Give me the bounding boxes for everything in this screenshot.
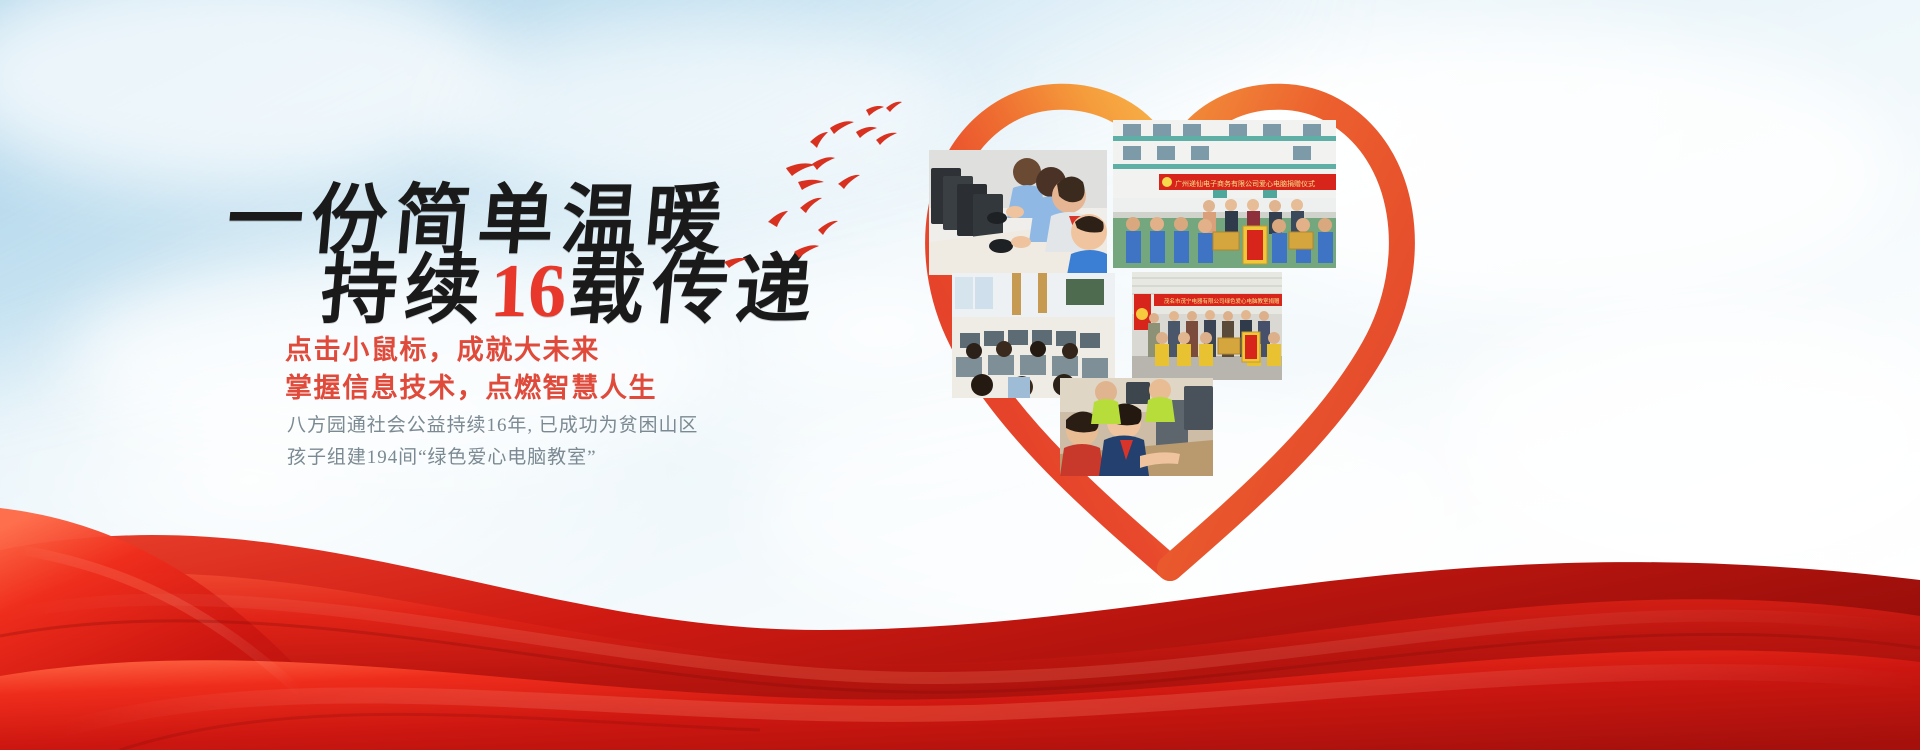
svg-text:广州递仙电子商务有限公司爱心电脑捐赠仪式: 广州递仙电子商务有限公司爱心电脑捐赠仪式 — [1175, 179, 1315, 188]
photo-donation-ceremony-school: 广州递仙电子商务有限公司爱心电脑捐赠仪式 — [1113, 120, 1336, 268]
charity-banner: 一份简单温暖 持续16载传递 点击小鼠标，成就大未来 掌握信息技术，点燃智慧人生… — [0, 0, 1920, 750]
photo-computer-lab-students — [929, 150, 1107, 275]
subtitle-line-1: 点击小鼠标，成就大未来 — [285, 328, 600, 367]
red-silk-ribbon — [0, 430, 1920, 750]
headline-years-number: 16 — [487, 248, 570, 335]
subtitle-line-2: 掌握信息技术，点燃智慧人生 — [285, 366, 657, 405]
photo-donation-group-indoor: 茂名市茂宁电器有限公司绿色爱心电脑教室捐赠 — [1132, 272, 1282, 380]
svg-text:茂名市茂宁电器有限公司绿色爱心电脑教室捐赠: 茂名市茂宁电器有限公司绿色爱心电脑教室捐赠 — [1164, 297, 1280, 305]
headline-line-2-before: 持续 — [318, 249, 493, 333]
